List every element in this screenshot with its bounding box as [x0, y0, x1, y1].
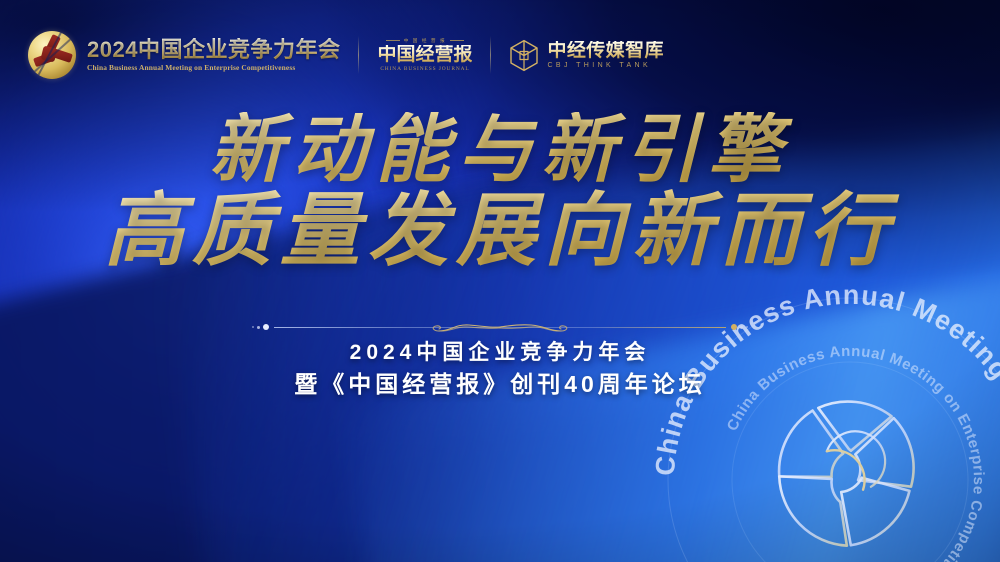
pinwheel-sphere-mark-icon [28, 31, 76, 79]
main-logo-title-cn: 2024中国企业竞争力年会 [87, 38, 340, 61]
think-tank-title-en: CBJ THINK TANK [547, 62, 663, 69]
divider-dots-right [731, 324, 748, 330]
journal-top-label-text: 中 国 经 营 报 [404, 38, 446, 44]
journal-top-label: 中 国 经 营 报 [377, 38, 472, 44]
journal-title-cn: 中国经营报 [377, 45, 472, 65]
hexagon-cube-icon [509, 39, 539, 72]
watermark-globe-mark [772, 395, 921, 552]
divider-flourish-icon [425, 320, 575, 334]
svg-text:China Business Annual Meeting: China Business Annual Meeting on Enterpr… [632, 260, 1000, 562]
hero-title-line2: 高质量发展向新而行 [0, 188, 1000, 276]
watermark-seal: China Business Annual Meeting on Enterpr… [619, 249, 1000, 562]
subtitle-line1: 2024中国企业竞争力年会 [0, 338, 1000, 368]
divider-dots-left [252, 324, 269, 330]
think-tank-title-cn: 中经传媒智库 [547, 41, 663, 61]
journal-title-en: CHINA BUSINESS JOURNAL [377, 66, 472, 72]
journal-logo: 中 国 经 营 报 中国经营报 CHINA BUSINESS JOURNAL [377, 38, 472, 73]
subtitle-block: 2024中国企业竞争力年会 暨《中国经营报》创刊40周年论坛 [0, 338, 1000, 402]
hero-title: 新动能与新引擎 高质量发展向新而行 [0, 112, 1000, 276]
main-logo: 2024中国企业竞争力年会 China Business Annual Meet… [28, 31, 340, 79]
logo-divider-1 [358, 36, 359, 74]
header-logo-bar: 2024中国企业竞争力年会 China Business Annual Meet… [28, 26, 664, 84]
think-tank-logo: 中经传媒智库 CBJ THINK TANK [509, 39, 663, 72]
hero-title-line1: 新动能与新引擎 [0, 112, 1000, 192]
subtitle-line2: 暨《中国经营报》创刊40周年论坛 [0, 368, 1000, 401]
main-logo-title-en: China Business Annual Meeting on Enterpr… [87, 63, 340, 72]
event-keyvisual-poster: China Business Annual Meeting on Enterpr… [0, 0, 1000, 562]
watermark-outer-ring-text: China Business Annual Meeting on Enterpr… [632, 260, 1000, 562]
logo-divider-2 [490, 36, 491, 74]
ornamental-divider [252, 320, 748, 334]
